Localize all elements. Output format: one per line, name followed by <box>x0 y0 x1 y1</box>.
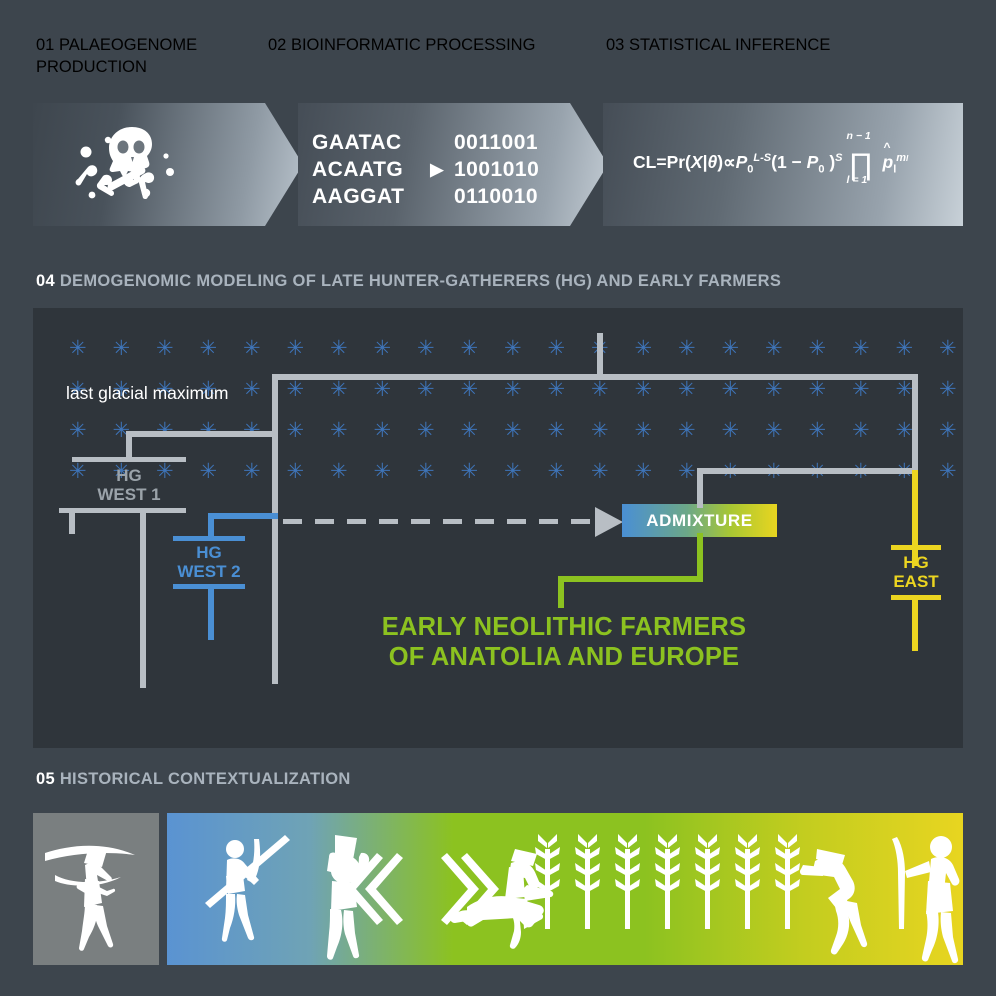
section-header-04: 04 DEMOGENOMIC MODELING OF LATE HUNTER-G… <box>36 272 781 291</box>
snowflake-icon: ✳ <box>287 338 305 359</box>
early-neolithic-farmers-label: EARLY NEOLITHIC FARMERS OF ANATOLIA AND … <box>372 612 756 672</box>
cave-painting-icon-box <box>33 813 159 965</box>
section-number-02: 02 <box>268 36 286 54</box>
snowflake-icon: ✳ <box>200 338 218 359</box>
snowflake-icon: ✳ <box>635 420 653 441</box>
admixture-label: ADMIXTURE <box>622 511 777 531</box>
last-glacial-maximum-annotation: last glacial maximum <box>66 383 228 404</box>
section-title-03: STATISTICAL INFERENCE <box>629 36 830 54</box>
snowflake-icon: ✳ <box>896 379 914 400</box>
formula-term2-open: (1 − <box>771 152 807 172</box>
formula-p0-sub: 0 <box>747 164 753 176</box>
cave-painting-hunter-icon <box>33 813 159 965</box>
section-number-05: 05 <box>36 770 55 788</box>
hg-west-2-top-bar <box>173 536 245 541</box>
hg-west-1-bottom-bar <box>59 508 186 513</box>
snowflake-icon: ✳ <box>896 338 914 359</box>
snowflake-icon: ✳ <box>200 461 218 482</box>
snowflake-icon: ✳ <box>765 379 783 400</box>
snowflake-icon: ✳ <box>852 379 870 400</box>
snowflake-icon: ✳ <box>287 461 305 482</box>
snowflake-icon: ✳ <box>939 338 957 359</box>
snowflake-icon: ✳ <box>417 338 435 359</box>
formula-term2-p: P <box>807 152 819 172</box>
hg-west-1-label-line1: HG <box>62 466 196 485</box>
convert-arrow-icon <box>420 184 454 211</box>
hg-west-2-label-line2: WEST 2 <box>160 562 258 581</box>
hg-west-1-top-bar <box>72 457 186 462</box>
snowflake-icon: ✳ <box>374 338 392 359</box>
binary-sequence: 0110010 <box>454 184 539 211</box>
composite-likelihood-formula: CL=Pr(X|θ)∝P0L-S(1 − P0 )S n − 1 ∏ l = 1… <box>633 152 908 176</box>
section-title-05: HISTORICAL CONTEXTUALIZATION <box>60 770 351 788</box>
snowflake-icon: ✳ <box>809 338 827 359</box>
dna-sequence: GAATAC <box>312 130 420 157</box>
hg-west-1-lineage <box>140 508 146 688</box>
formula-phat-sup-sub: l <box>906 154 908 163</box>
snowflake-icon: ✳ <box>417 420 435 441</box>
formula-phat: ^p <box>883 152 894 173</box>
snowflake-icon: ✳ <box>113 338 131 359</box>
snowflake-icon: ✳ <box>374 379 392 400</box>
snowflake-icon: ✳ <box>896 420 914 441</box>
farmers-green-drop <box>697 533 703 581</box>
snowflake-icon: ✳ <box>374 420 392 441</box>
formula-phat-sub: l <box>893 164 896 176</box>
formula-propto: ∝ <box>723 152 736 172</box>
formula-p0: P <box>736 152 748 172</box>
hg-west-1-label-line2: WEST 1 <box>62 485 196 504</box>
binary-sequence: 0011001 <box>454 130 539 157</box>
snowflake-icon: ✳ <box>69 338 87 359</box>
section-header-05: 05 HISTORICAL CONTEXTUALIZATION <box>36 770 351 789</box>
formula-exp1: L-S <box>753 152 771 164</box>
hg-west-2-label: HG WEST 2 <box>160 543 258 581</box>
snowflake-icon: ✳ <box>243 379 261 400</box>
gene-flow-arrow-icon <box>595 507 623 537</box>
farmers-green-horizontal <box>558 576 703 582</box>
snowflake-icon: ✳ <box>678 338 696 359</box>
snowflake-icon: ✳ <box>852 338 870 359</box>
formula-lhs: CL <box>633 152 656 172</box>
snowflake-icon: ✳ <box>330 379 348 400</box>
convert-arrow-icon: ▶ <box>420 157 454 184</box>
snowflake-icon: ✳ <box>504 420 522 441</box>
snowflake-icon: ✳ <box>591 420 609 441</box>
west1-drop <box>126 431 132 459</box>
snowflake-icon: ✳ <box>678 379 696 400</box>
snowflake-icon: ✳ <box>417 379 435 400</box>
historical-timeline-strip <box>167 813 963 965</box>
section-header-03: 03 STATISTICAL INFERENCE <box>606 34 906 56</box>
snowflake-icon: ✳ <box>548 420 566 441</box>
snowflake-icon: ✳ <box>243 461 261 482</box>
snowflake-icon: ✳ <box>548 379 566 400</box>
west2-connector-horizontal <box>208 513 278 519</box>
farmer-harvesting-icon <box>800 849 867 954</box>
formula-equals: = <box>656 152 666 172</box>
section-header-row: 01 PALAEOGENOME PRODUCTION 02 BIOINFORMA… <box>36 34 976 78</box>
snowflake-icon: ✳ <box>548 338 566 359</box>
snowflake-icon: ✳ <box>809 420 827 441</box>
product-lower-limit: l = 1 <box>847 174 868 186</box>
snowflake-icon: ✳ <box>330 420 348 441</box>
timeline-pictograms <box>167 813 963 965</box>
farmers-line2: OF ANATOLIA AND EUROPE <box>372 642 756 672</box>
hg-east-label-line1: HG <box>876 553 956 572</box>
snowflake-icon: ✳ <box>722 379 740 400</box>
formula-x: X <box>691 152 703 172</box>
skull-and-bone-fragments-icon <box>70 123 200 208</box>
snowflake-icon: ✳ <box>635 338 653 359</box>
snowflake-icon: ✳ <box>939 379 957 400</box>
snowflake-icon: ✳ <box>678 420 696 441</box>
binary-sequence: 1001010 <box>454 157 539 184</box>
snowflake-icon: ✳ <box>504 461 522 482</box>
section-title-01: PALAEOGENOME PRODUCTION <box>36 36 197 76</box>
dna-sequence: ACAATG <box>312 157 420 184</box>
sequence-row: AAGGAT 0110010 <box>312 184 539 211</box>
snowflake-icon: ✳ <box>504 379 522 400</box>
formula-pr: Pr <box>667 152 685 172</box>
snowflake-icon: ✳ <box>287 420 305 441</box>
snowflake-icon: ✳ <box>461 461 479 482</box>
tree-root-stem <box>597 333 603 378</box>
snowflake-icon: ✳ <box>461 379 479 400</box>
infographic-root: 01 PALAEOGENOME PRODUCTION 02 BIOINFORMA… <box>0 0 996 996</box>
hg-west-1-label: HG WEST 1 <box>62 466 196 504</box>
sequence-row: ACAATG ▶ 1001010 <box>312 157 539 184</box>
hunter-with-spear-icon <box>205 835 290 942</box>
section-header-02: 02 BIOINFORMATIC PROCESSING <box>268 34 606 56</box>
wheat-field-icon <box>535 834 800 929</box>
hat-accent-icon: ^ <box>884 140 891 154</box>
section-number-03: 03 <box>606 36 624 54</box>
hg-east-lineage <box>912 595 918 651</box>
gene-flow-dashed-line <box>283 519 597 524</box>
sequence-row: GAATAC 0011001 <box>312 130 539 157</box>
formula-theta: θ <box>707 152 717 172</box>
snowflake-icon: ✳ <box>417 461 435 482</box>
snowflake-icon: ✳ <box>591 461 609 482</box>
farmers-line1: EARLY NEOLITHIC FARMERS <box>372 612 756 642</box>
snowflake-icon: ✳ <box>156 338 174 359</box>
farmers-green-stem <box>558 576 564 608</box>
snowflake-icon: ✳ <box>548 461 566 482</box>
snowflake-icon: ✳ <box>330 338 348 359</box>
west-split-horizontal <box>126 431 278 437</box>
snowflake-icon: ✳ <box>765 420 783 441</box>
snowflake-icon: ✳ <box>591 379 609 400</box>
snowflake-icon: ✳ <box>243 338 261 359</box>
convert-arrow-icon <box>420 130 454 157</box>
snowflake-icon: ✳ <box>939 420 957 441</box>
snowflake-icon: ✳ <box>69 420 87 441</box>
snowflake-icon: ✳ <box>287 379 305 400</box>
section-title-02: BIOINFORMATIC PROCESSING <box>291 36 535 54</box>
section-title-04: DEMOGENOMIC MODELING OF LATE HUNTER-GATH… <box>60 272 781 290</box>
tree-west-trunk <box>272 374 278 684</box>
hg-west-2-lineage <box>208 584 214 640</box>
snowflake-icon: ✳ <box>504 338 522 359</box>
tree-east-trunk <box>912 374 918 470</box>
glacial-snowflake-field: ✳✳✳✳✳✳✳✳✳✳✳✳✳✳✳✳✳✳✳✳✳✳✳✳✳✳✳✳✳✳✳✳✳✳✳✳✳✳✳✳… <box>69 338 977 473</box>
formula-phat-sup: m <box>896 152 906 164</box>
sequence-table: GAATAC 0011001 ACAATG ▶ 1001010 AAGGAT 0… <box>312 130 539 211</box>
formula-term2-close: ) <box>824 152 835 172</box>
shepherd-with-staff-icon <box>892 836 959 963</box>
tree-root-horizontal <box>272 374 918 380</box>
snowflake-icon: ✳ <box>809 379 827 400</box>
snowflake-icon: ✳ <box>939 461 957 482</box>
formula-exp2: S <box>835 152 842 164</box>
hg-west-2-label-line1: HG <box>160 543 258 562</box>
snowflake-icon: ✳ <box>461 338 479 359</box>
snowflake-icon: ✳ <box>374 461 392 482</box>
snowflake-icon: ✳ <box>852 420 870 441</box>
snowflake-icon: ✳ <box>722 420 740 441</box>
section-header-01: 01 PALAEOGENOME PRODUCTION <box>36 34 268 78</box>
hg-east-label-line2: EAST <box>876 572 956 591</box>
hg-west-1-tail <box>69 508 75 534</box>
product-upper-limit: n − 1 <box>847 130 871 142</box>
snowflake-icon: ✳ <box>635 461 653 482</box>
snowflake-icon: ✳ <box>330 461 348 482</box>
section-number-04: 04 <box>36 272 55 290</box>
admixture-grey-input-drop <box>697 468 703 508</box>
snowflake-icon: ✳ <box>635 379 653 400</box>
dna-sequence: AAGGAT <box>312 184 420 211</box>
admixture-grey-input-horizontal <box>697 468 918 474</box>
snowflake-icon: ✳ <box>461 420 479 441</box>
snowflake-icon: ✳ <box>765 338 783 359</box>
snowflake-icon: ✳ <box>678 461 696 482</box>
section-number-01: 01 <box>36 36 54 54</box>
hg-east-top-bar <box>891 545 941 550</box>
hg-east-upper-lineage <box>912 470 918 566</box>
hg-east-label: HG EAST <box>876 553 956 591</box>
snowflake-icon: ✳ <box>722 338 740 359</box>
formula-phat-p: p <box>883 152 894 172</box>
